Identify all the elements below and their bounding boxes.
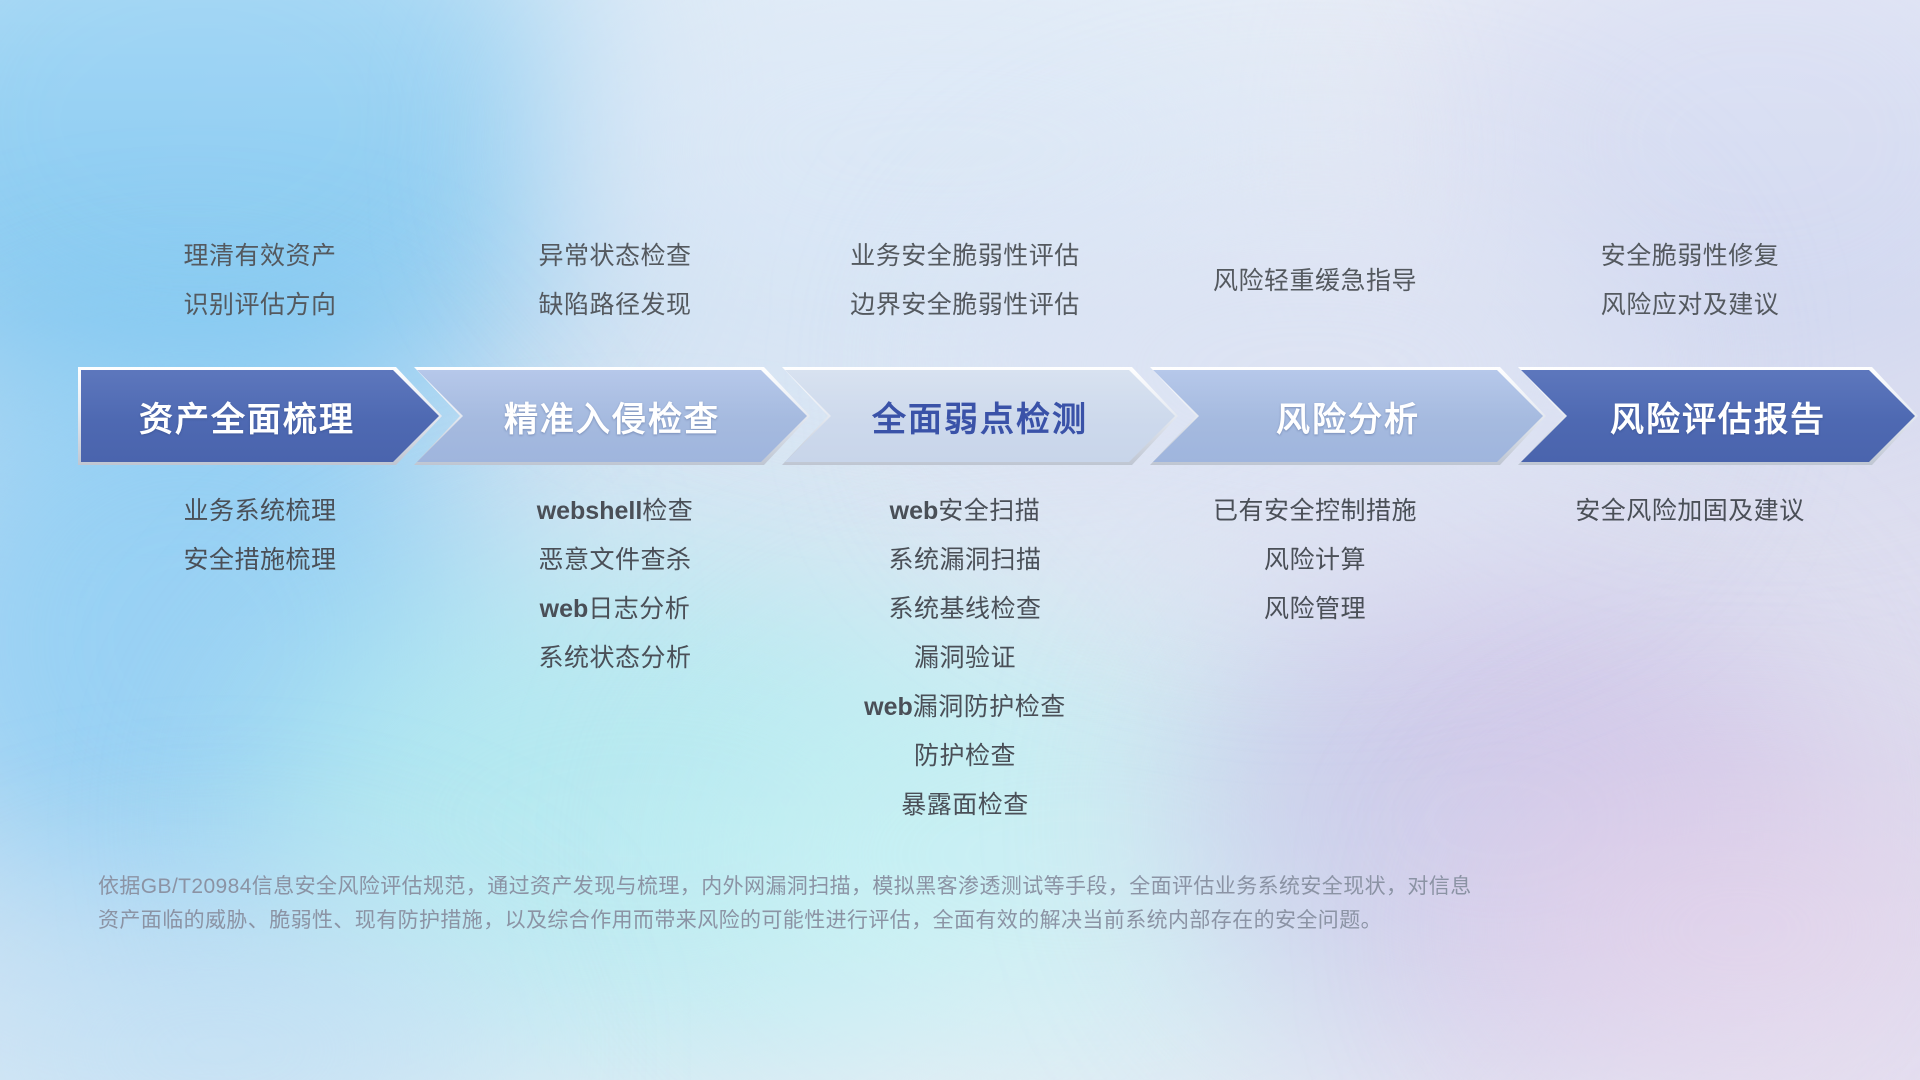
note-line: 安全脆弱性修复 bbox=[1490, 232, 1890, 281]
chevron-label: 精准入侵检查 bbox=[504, 392, 720, 441]
bottom-list-stage-4: 已有安全控制措施 风险计算 风险管理 bbox=[1140, 487, 1490, 830]
top-notes-stage-2: 异常状态检查 缺陷路径发现 bbox=[440, 232, 790, 330]
list-item-text: 漏洞防护检查 bbox=[913, 693, 1066, 721]
list-item-text: 风险计算 bbox=[1264, 546, 1366, 574]
note-line: 异常状态检查 bbox=[440, 232, 790, 281]
list-item: 风险管理 bbox=[1140, 585, 1490, 634]
note-line: 理清有效资产 bbox=[80, 232, 440, 281]
footer-description: 依据GB/T20984信息安全风险评估规范，通过资产发现与梳理，内外网漏洞扫描，… bbox=[98, 870, 1598, 938]
bottom-lists-row: 业务系统梳理 安全措施梳理 webshell检查 恶意文件查杀 web日志分析 … bbox=[0, 487, 1920, 830]
chevron-label: 资产全面梳理 bbox=[139, 392, 355, 441]
chevron-stage-3[interactable]: 全面弱点检测 bbox=[782, 367, 1178, 465]
list-item-latin: web bbox=[540, 595, 589, 623]
list-item: web日志分析 bbox=[440, 585, 790, 634]
list-item-latin: web bbox=[890, 497, 939, 525]
top-notes-stage-5: 安全脆弱性修复 风险应对及建议 bbox=[1490, 232, 1890, 330]
list-item: 系统基线检查 bbox=[790, 585, 1140, 634]
process-chevron-band: 资产全面梳理 精准入侵检查 全面弱点检测 bbox=[78, 367, 1848, 465]
list-item: web安全扫描 bbox=[790, 487, 1140, 536]
chevron-stage-4[interactable]: 风险分析 bbox=[1150, 367, 1546, 465]
list-item: 系统状态分析 bbox=[440, 634, 790, 683]
chevron-stage-2[interactable]: 精准入侵检查 bbox=[414, 367, 810, 465]
list-item-text: 安全扫描 bbox=[938, 497, 1040, 525]
footer-line-2: 资产面临的威胁、脆弱性、现有防护措施，以及综合作用而带来风险的可能性进行评估，全… bbox=[98, 904, 1598, 938]
chevron-stage-5[interactable]: 风险评估报告 bbox=[1518, 367, 1918, 465]
note-line: 风险应对及建议 bbox=[1490, 281, 1890, 330]
list-item-text: 业务系统梳理 bbox=[183, 497, 336, 525]
top-notes-stage-4: 风险轻重缓急指导 bbox=[1140, 232, 1490, 330]
chevron-stage-1[interactable]: 资产全面梳理 bbox=[78, 367, 442, 465]
footer-line-1: 依据GB/T20984信息安全风险评估规范，通过资产发现与梳理，内外网漏洞扫描，… bbox=[98, 870, 1598, 904]
list-item-text: 暴露面检查 bbox=[901, 791, 1029, 819]
note-line: 缺陷路径发现 bbox=[440, 281, 790, 330]
chevron-label: 全面弱点检测 bbox=[872, 392, 1088, 441]
list-item: 业务系统梳理 bbox=[80, 487, 440, 536]
list-item: web漏洞防护检查 bbox=[790, 683, 1140, 732]
list-item: 恶意文件查杀 bbox=[440, 536, 790, 585]
chevron-label: 风险分析 bbox=[1276, 392, 1420, 441]
list-item-latin: webshell bbox=[537, 497, 643, 525]
list-item-text: 系统基线检查 bbox=[888, 595, 1041, 623]
list-item-text: 检查 bbox=[642, 497, 693, 525]
list-item: 防护检查 bbox=[790, 732, 1140, 781]
top-notes-row: 理清有效资产 识别评估方向 异常状态检查 缺陷路径发现 业务安全脆弱性评估 边界… bbox=[0, 232, 1920, 330]
list-item-text: 系统漏洞扫描 bbox=[888, 546, 1041, 574]
bottom-list-stage-2: webshell检查 恶意文件查杀 web日志分析 系统状态分析 bbox=[440, 487, 790, 830]
list-item-text: 安全措施梳理 bbox=[183, 546, 336, 574]
list-item: 风险计算 bbox=[1140, 536, 1490, 585]
list-item-text: 系统状态分析 bbox=[538, 644, 691, 672]
list-item: 漏洞验证 bbox=[790, 634, 1140, 683]
note-line: 边界安全脆弱性评估 bbox=[790, 281, 1140, 330]
list-item-text: 风险管理 bbox=[1264, 595, 1366, 623]
top-notes-stage-1: 理清有效资产 识别评估方向 bbox=[80, 232, 440, 330]
bottom-list-stage-3: web安全扫描 系统漏洞扫描 系统基线检查 漏洞验证 web漏洞防护检查 防护检… bbox=[790, 487, 1140, 830]
top-notes-stage-3: 业务安全脆弱性评估 边界安全脆弱性评估 bbox=[790, 232, 1140, 330]
list-item: 系统漏洞扫描 bbox=[790, 536, 1140, 585]
list-item: 安全措施梳理 bbox=[80, 536, 440, 585]
list-item-text: 已有安全控制措施 bbox=[1213, 497, 1417, 525]
note-line: 识别评估方向 bbox=[80, 281, 440, 330]
chevron-label: 风险评估报告 bbox=[1610, 392, 1826, 441]
list-item-latin: web bbox=[864, 693, 913, 721]
list-item-text: 安全风险加固及建议 bbox=[1575, 497, 1805, 525]
bottom-list-stage-5: 安全风险加固及建议 bbox=[1490, 487, 1890, 830]
list-item-text: 恶意文件查杀 bbox=[538, 546, 691, 574]
note-line: 风险轻重缓急指导 bbox=[1140, 232, 1490, 330]
list-item: webshell检查 bbox=[440, 487, 790, 536]
list-item-text: 漏洞验证 bbox=[914, 644, 1016, 672]
list-item: 已有安全控制措施 bbox=[1140, 487, 1490, 536]
list-item: 安全风险加固及建议 bbox=[1490, 487, 1890, 536]
list-item: 暴露面检查 bbox=[790, 781, 1140, 830]
bottom-list-stage-1: 业务系统梳理 安全措施梳理 bbox=[80, 487, 440, 830]
list-item-text: 日志分析 bbox=[588, 595, 690, 623]
list-item-text: 防护检查 bbox=[914, 742, 1016, 770]
slide-canvas: 理清有效资产 识别评估方向 异常状态检查 缺陷路径发现 业务安全脆弱性评估 边界… bbox=[0, 0, 1920, 1080]
note-line: 业务安全脆弱性评估 bbox=[790, 232, 1140, 281]
